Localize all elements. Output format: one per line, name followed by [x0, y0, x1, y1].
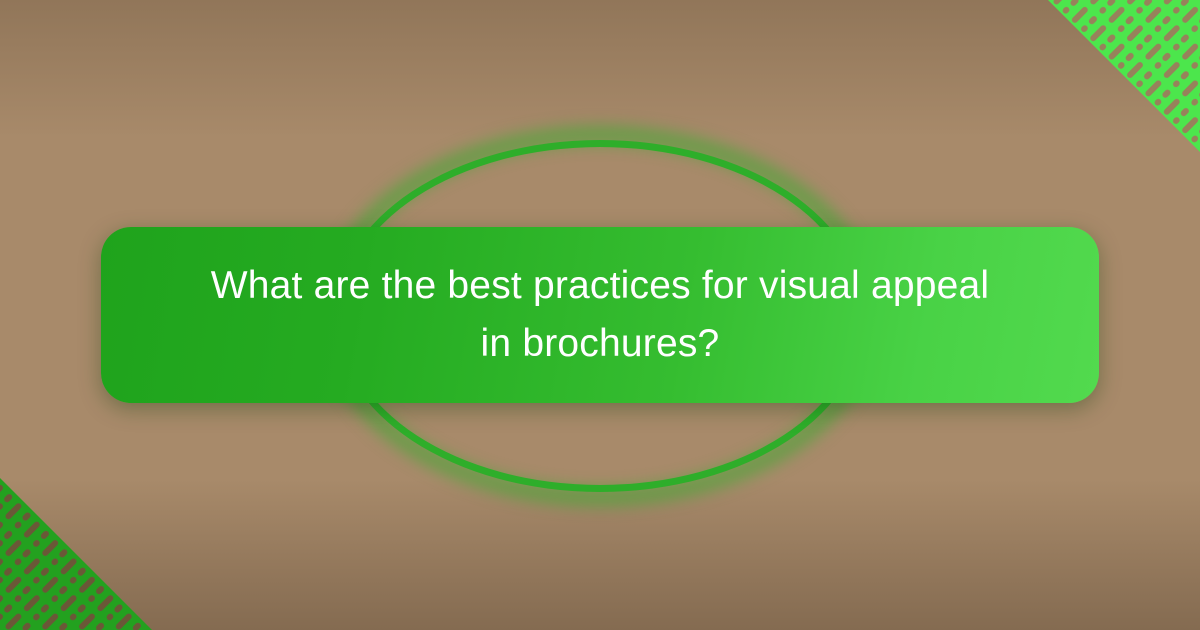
poster-canvas: What are the best practices for visual a… — [0, 0, 1200, 630]
question-card[interactable]: What are the best practices for visual a… — [101, 227, 1099, 403]
question-text: What are the best practices for visual a… — [181, 257, 1019, 372]
